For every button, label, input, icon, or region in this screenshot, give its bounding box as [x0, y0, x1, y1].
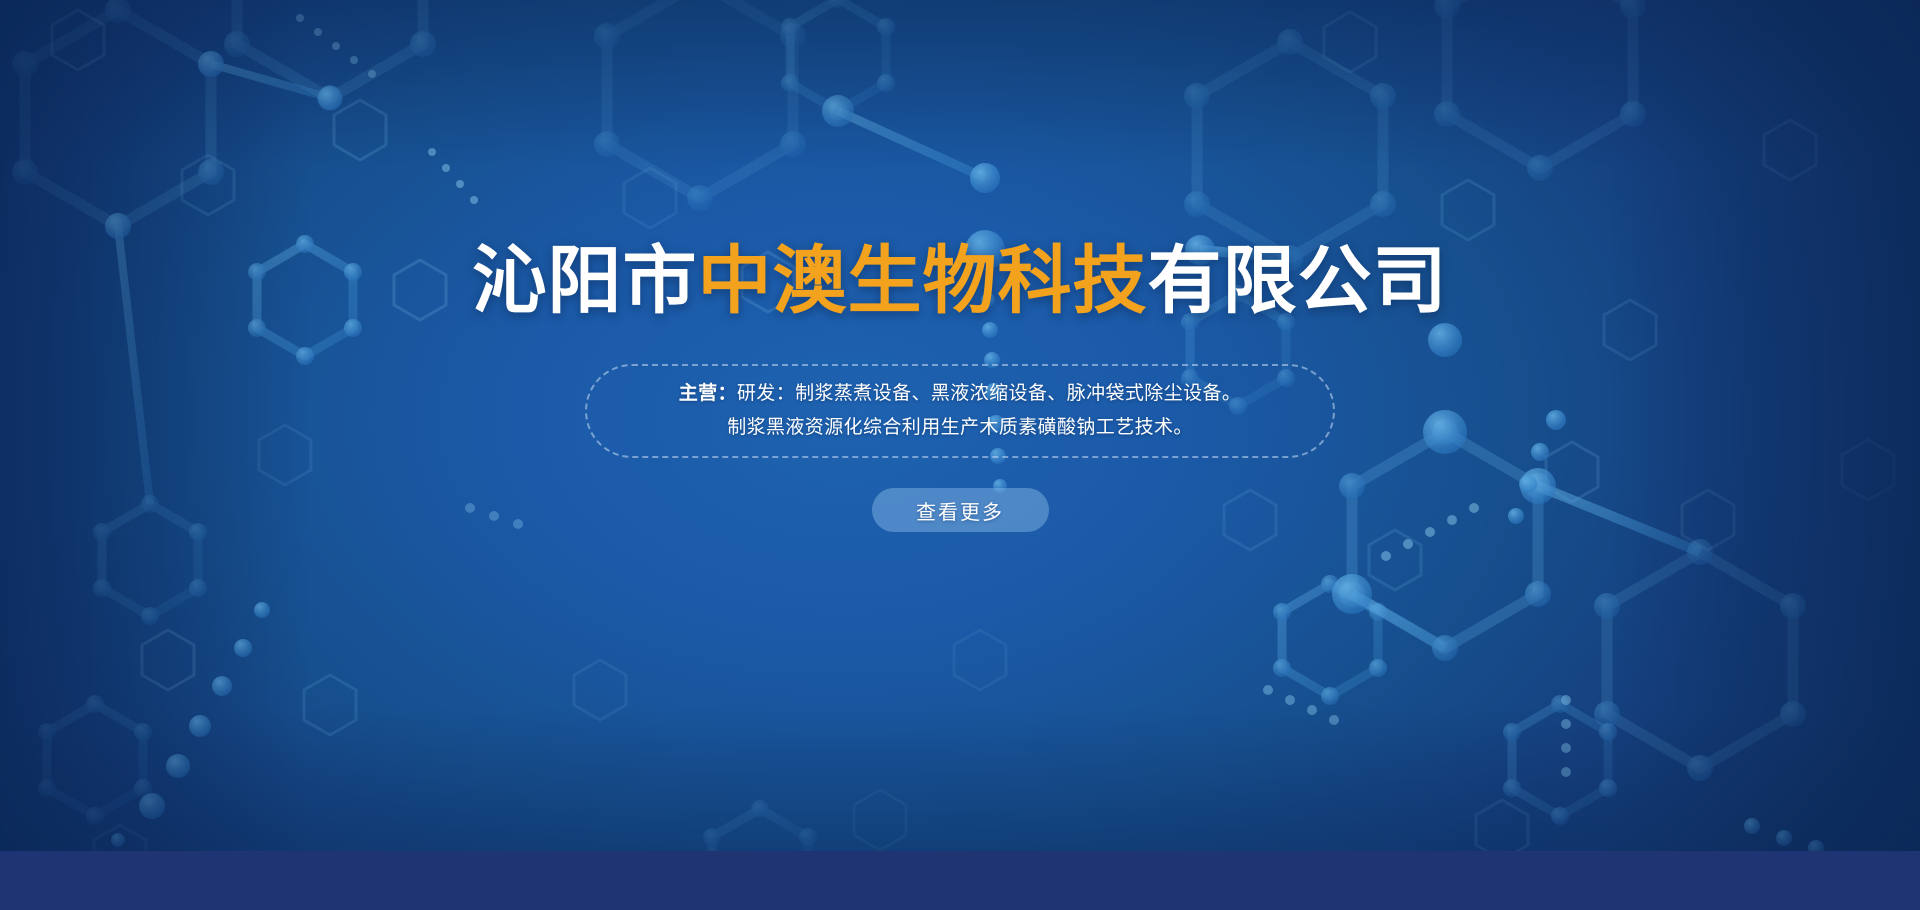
subtitle-line-1-text: 研发：制浆蒸煮设备、黑液浓缩设备、脉冲袋式除尘设备。: [737, 383, 1241, 404]
subtitle-line-2: 制浆黑液资源化综合利用生产木质素磺酸钠工艺技术。: [727, 411, 1193, 445]
subtitle-box: 主营：研发：制浆蒸煮设备、黑液浓缩设备、脉冲袋式除尘设备。 制浆黑液资源化综合利…: [585, 364, 1335, 458]
subtitle-line-1: 主营：研发：制浆蒸煮设备、黑液浓缩设备、脉冲袋式除尘设备。: [679, 377, 1242, 411]
title-suffix: 有限公司: [1148, 239, 1448, 322]
cta-wrapper: 查看更多: [0, 488, 1920, 532]
page-title: 沁阳市中澳生物科技有限公司: [0, 240, 1920, 323]
hero-content: 沁阳市中澳生物科技有限公司 主营：研发：制浆蒸煮设备、黑液浓缩设备、脉冲袋式除尘…: [0, 0, 1920, 851]
title-prefix: 沁阳市: [473, 239, 698, 322]
hero-banner: 沁阳市中澳生物科技有限公司 主营：研发：制浆蒸煮设备、黑液浓缩设备、脉冲袋式除尘…: [0, 0, 1920, 910]
subtitle-lead: 主营：: [679, 383, 737, 404]
title-accent: 中澳生物科技: [698, 239, 1148, 322]
bottom-band: [0, 851, 1920, 910]
view-more-button[interactable]: 查看更多: [872, 488, 1049, 532]
